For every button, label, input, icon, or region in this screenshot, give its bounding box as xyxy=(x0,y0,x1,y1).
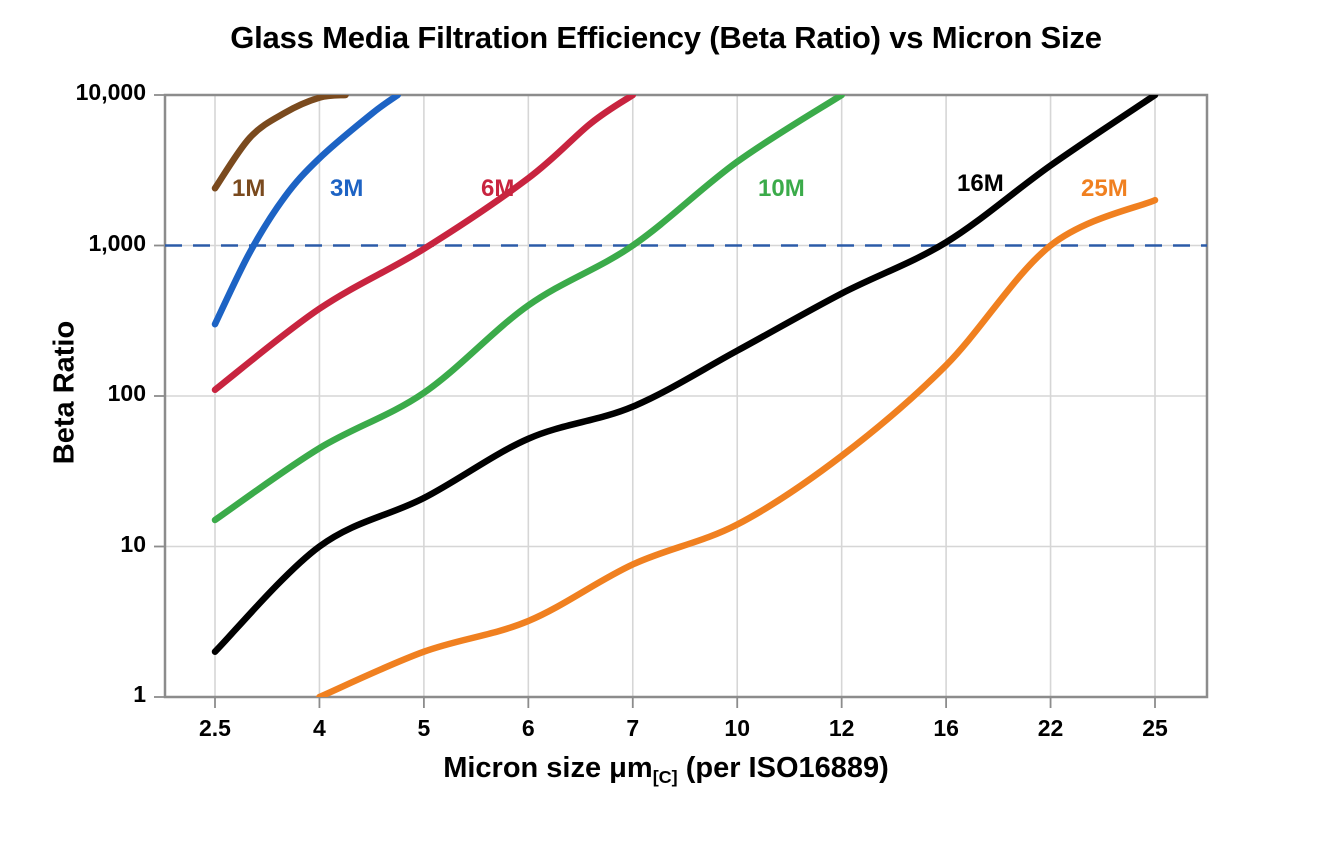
series-label-6M: 6M xyxy=(481,175,514,203)
x-axis-title-suffix: (per ISO16889) xyxy=(678,752,889,784)
chart-container: Glass Media Filtration Efficiency (Beta … xyxy=(0,0,1332,842)
series-label-3M: 3M xyxy=(330,175,363,203)
x-tick-label-6: 6 xyxy=(488,715,568,742)
x-tick-label-22: 22 xyxy=(1011,715,1091,742)
x-tick-label-5: 5 xyxy=(384,715,464,742)
y-tick-label-10000: 10,000 xyxy=(26,79,146,106)
x-tick-label-2-5: 2.5 xyxy=(175,715,255,742)
y-tick-label-10: 10 xyxy=(26,531,146,558)
x-axis-title-sub: [C] xyxy=(653,767,678,787)
x-tick-label-4: 4 xyxy=(279,715,359,742)
axis-ticks xyxy=(154,95,1155,708)
x-tick-label-10: 10 xyxy=(697,715,777,742)
y-tick-label-100: 100 xyxy=(26,380,146,407)
x-tick-label-16: 16 xyxy=(906,715,986,742)
y-axis-title: Beta Ratio xyxy=(49,273,82,513)
x-axis-title: Micron size μm[C] (per ISO16889) xyxy=(0,752,1332,788)
x-axis-title-main: Micron size μm xyxy=(443,752,653,784)
x-tick-label-25: 25 xyxy=(1115,715,1195,742)
gridlines xyxy=(165,95,1207,697)
series-label-1M: 1M xyxy=(232,175,265,203)
series-label-16M: 16M xyxy=(957,170,1004,198)
series-label-10M: 10M xyxy=(758,175,805,203)
y-tick-label-1000: 1,000 xyxy=(26,230,146,257)
y-tick-label-1: 1 xyxy=(26,681,146,708)
x-tick-label-12: 12 xyxy=(802,715,882,742)
series-line-3M xyxy=(215,95,398,324)
series-label-25M: 25M xyxy=(1081,175,1128,203)
x-tick-label-7: 7 xyxy=(593,715,673,742)
